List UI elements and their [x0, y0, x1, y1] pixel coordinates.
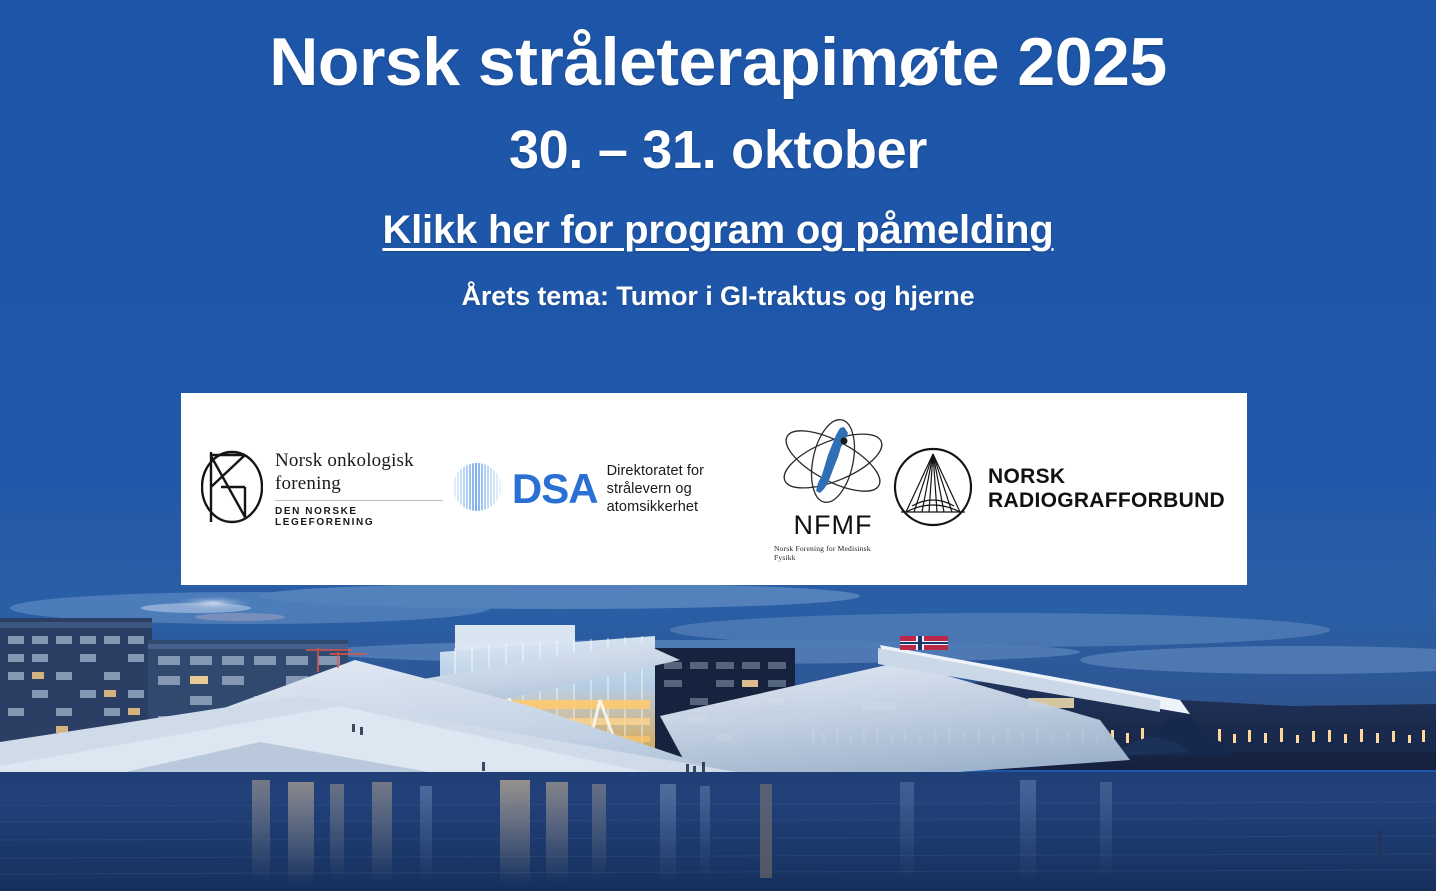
radiograf-cone-icon: [892, 446, 974, 533]
dsa-wave-icon: [451, 459, 503, 520]
dsa-wordmark: DSA: [512, 468, 598, 510]
logo-nfmf: NFMF Norsk Forening for Medisinsk Fysikk: [774, 417, 892, 562]
nof-name-line1: Norsk onkologisk: [275, 450, 451, 472]
dsa-tagline-line2: strålevern og atomsikkerhet: [607, 481, 699, 515]
atom-norway-icon: [774, 417, 892, 514]
hero-content: Norsk stråleterapimøte 2025 30. – 31. ok…: [0, 0, 1436, 312]
slide-root: Norsk stråleterapimøte 2025 30. – 31. ok…: [0, 0, 1436, 891]
registration-link[interactable]: Klikk her for program og påmelding: [382, 208, 1053, 252]
page-title: Norsk stråleterapimøte 2025: [0, 28, 1436, 97]
nrf-line1: NORSK: [988, 465, 1065, 488]
nof-divider: [275, 500, 443, 501]
logo-norsk-onkologisk-forening: Norsk onkologisk forening DEN NORSKE LEG…: [201, 447, 451, 532]
nof-parent-org: DEN NORSKE LEGEFORENING: [275, 506, 451, 528]
logo-norsk-radiografforbund: NORSK RADIOGRAFFORBUND: [892, 446, 1225, 533]
sponsor-logo-band: Norsk onkologisk forening DEN NORSKE LEG…: [181, 393, 1247, 585]
nfmf-wordmark: NFMF: [794, 510, 873, 541]
nfmf-fullname: Norsk Forening for Medisinsk Fysikk: [774, 544, 892, 562]
event-dates: 30. – 31. oktober: [0, 123, 1436, 178]
dsa-tagline: Direktoratet for strålevern og atomsikke…: [607, 462, 774, 517]
nrf-line2: RADIOGRAFFORBUND: [988, 489, 1225, 512]
nrf-wordmark: NORSK RADIOGRAFFORBUND: [988, 465, 1225, 514]
registration-link-wrapper: Klikk her for program og påmelding: [0, 208, 1436, 253]
nof-name-line2: forening: [275, 473, 451, 495]
logo-dsa: DSA Direktoratet for strålevern og atoms…: [451, 459, 774, 520]
event-theme: Årets tema: Tumor i GI-traktus og hjerne: [0, 281, 1436, 312]
dsa-tagline-line1: Direktoratet for: [607, 463, 705, 479]
nof-text-block: Norsk onkologisk forening DEN NORSKE LEG…: [275, 450, 451, 528]
nof-monogram-icon: [201, 447, 263, 532]
